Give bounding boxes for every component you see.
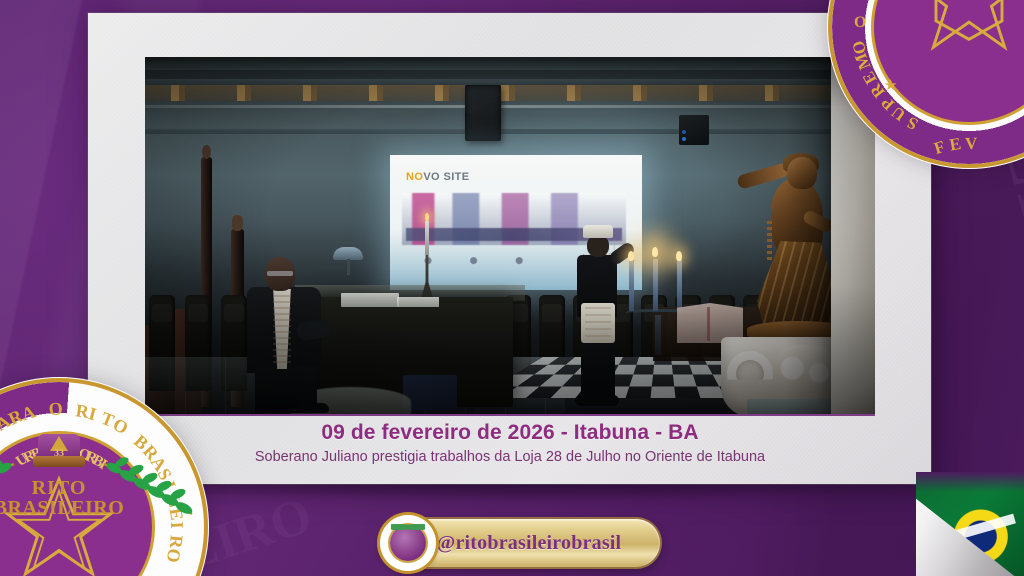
nine-pointed-star-icon	[903, 0, 1024, 71]
seal-tr-marker-o: O	[854, 14, 866, 32]
arc-char: I	[166, 521, 187, 529]
curl-purple-edge	[916, 472, 1024, 492]
crown-icon: 33	[30, 434, 88, 476]
brand-badge-icon	[380, 515, 436, 571]
seal-logo-line2: BRASILEIRO	[0, 498, 124, 518]
event-photograph: NOVO SITE Até em 4 línguas!	[145, 57, 875, 416]
seal-tr-star-divider-icon: ★	[884, 76, 897, 94]
caption-block: 09 de fevereiro de 2026 - Itabuna - BA S…	[145, 421, 875, 467]
photo-card: NOVO SITE Até em 4 línguas!	[88, 13, 931, 484]
photo-vignette	[145, 57, 875, 414]
seal-supremo-conselho: SUPREMO 17 FEV HOMO HOMINI ✳✳ O ★	[832, 0, 1024, 164]
caption-subtitle: Soberano Juliano prestigia trabalhos da …	[145, 449, 875, 466]
seal-logo-line1: RITO	[0, 478, 124, 498]
page-curl-with-flag	[916, 472, 1024, 576]
seal-logo-text: RITO BRASILEIRO	[0, 478, 124, 519]
seal-rito-brasileiro: DO BRASIL PARA O RITO BRASILEIRO URBI ET…	[0, 382, 204, 576]
caption-title: 09 de fevereiro de 2026 - Itabuna - BA	[145, 421, 875, 445]
instagram-handle-pill[interactable]: @ritobrasileirobrasil	[386, 519, 660, 567]
arc-char: O	[162, 547, 185, 565]
arc-char: V	[965, 134, 978, 154]
arc-char: E	[948, 134, 963, 156]
arc-char	[62, 399, 67, 420]
